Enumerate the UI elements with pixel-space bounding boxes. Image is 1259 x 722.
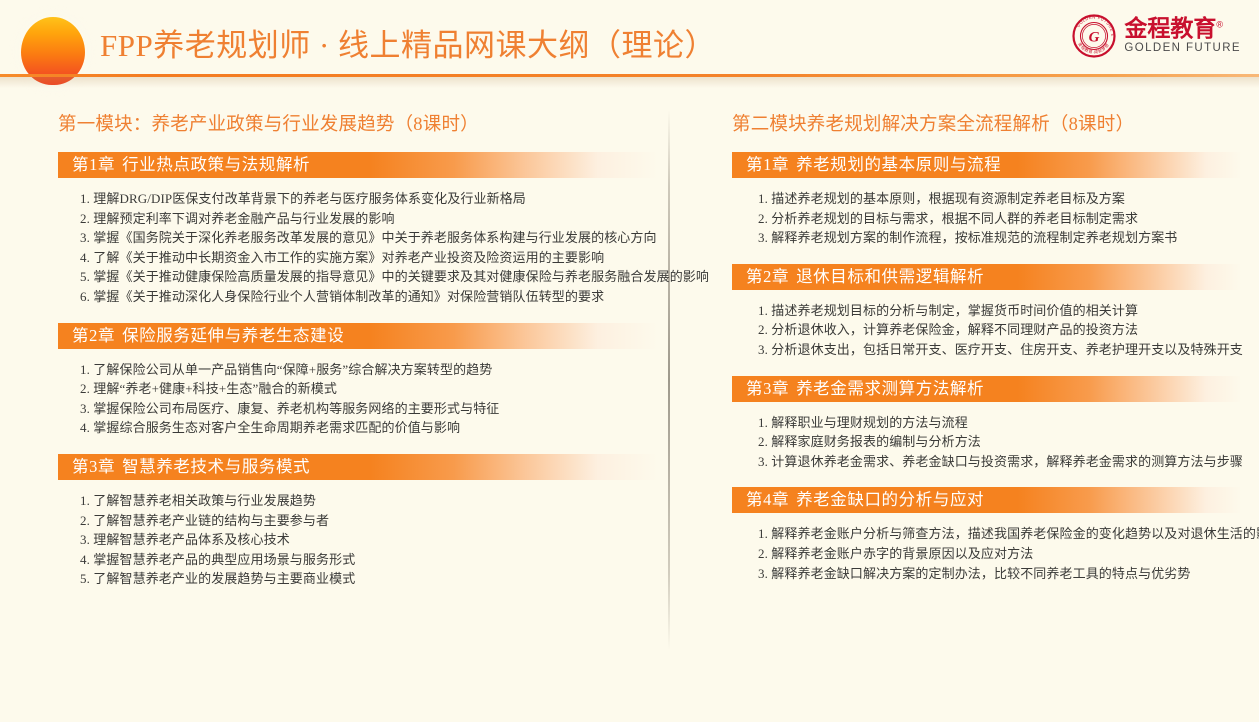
logo-name-cn: 金程教育® [1124, 17, 1241, 40]
chapter-block: 第1章养老规划的基本原则与流程 1. 描述养老规划的基本原则，根据现有资源制定养… [732, 152, 1242, 260]
objective-list: 1. 描述养老规划的基本原则，根据现有资源制定养老目标及方案 2. 分析养老规划… [732, 178, 1242, 260]
list-item: 2. 分析养老规划的目标与需求，根据不同人群的养老目标制定需求 [758, 209, 1242, 229]
chapter-number: 第3章 [746, 379, 789, 398]
chapter-title: 养老金需求测算方法解析 [796, 379, 984, 398]
chapter-header: 第4章养老金缺口的分析与应对 [732, 487, 1242, 513]
objective-list: 1. 了解智慧养老相关政策与行业发展趋势 2. 了解智慧养老产业链的结构与主要参… [58, 480, 658, 601]
objective-list: 1. 了解保险公司从单一产品销售向“保障+服务”综合解决方案转型的趋势 2. 理… [58, 349, 658, 450]
chapter-block: 第3章养老金需求测算方法解析 1. 解释职业与理财规划的方法与流程 2. 解释家… [732, 376, 1242, 484]
chapter-block: 第3章智慧养老技术与服务模式 1. 了解智慧养老相关政策与行业发展趋势 2. 了… [58, 454, 658, 601]
logo-name-cn-text: 金程教育 [1124, 15, 1216, 41]
list-item: 1. 描述养老规划目标的分析与制定，掌握货币时间价值的相关计算 [758, 301, 1242, 321]
chapter-header: 第3章智慧养老技术与服务模式 [58, 454, 658, 480]
logo-wordmark: 金程教育® GOLDEN FUTURE [1124, 17, 1241, 55]
chapter-title: 智慧养老技术与服务模式 [122, 457, 310, 476]
chapter-title: 养老规划的基本原则与流程 [796, 155, 1001, 174]
list-item: 3. 理解智慧养老产品体系及核心技术 [80, 530, 658, 550]
module-column-right: 第二模块养老规划解决方案全流程解析（8课时） 第1章养老规划的基本原则与流程 1… [732, 112, 1242, 599]
chapter-title: 退休目标和供需逻辑解析 [796, 267, 984, 286]
column-divider [668, 110, 670, 650]
chapter-number: 第2章 [72, 326, 115, 345]
objective-list: 1. 解释职业与理财规划的方法与流程 2. 解释家庭财务报表的编制与分析方法 3… [732, 402, 1242, 484]
list-item: 1. 了解保险公司从单一产品销售向“保障+服务”综合解决方案转型的趋势 [80, 360, 658, 380]
list-item: 1. 解释职业与理财规划的方法与流程 [758, 413, 1242, 433]
list-item: 3. 解释养老金缺口解决方案的定制办法，比较不同养老工具的特点与优劣势 [758, 564, 1242, 584]
chapter-title: 养老金缺口的分析与应对 [796, 490, 984, 509]
page-title: FPP养老规划师 · 线上精品网课大纲（理论） [100, 24, 716, 68]
objective-list: 1. 解释养老金账户分析与筛查方法，描述我国养老保险金的变化趋势以及对退休生活的… [732, 513, 1242, 595]
list-item: 3. 分析退休支出，包括日常开支、医疗开支、住房开支、养老护理开支以及特殊开支 [758, 340, 1242, 360]
list-item: 2. 理解预定利率下调对养老金融产品与行业发展的影响 [80, 209, 658, 229]
chapter-block: 第4章养老金缺口的分析与应对 1. 解释养老金账户分析与筛查方法，描述我国养老保… [732, 487, 1242, 595]
logo-name-en: GOLDEN FUTURE [1124, 43, 1241, 55]
module-title: 第一模块：养老产业政策与行业发展趋势（8课时） [58, 112, 658, 138]
list-item: 3. 掌握保险公司布局医疗、康复、养老机构等服务网络的主要形式与特征 [80, 399, 658, 419]
module-title: 第二模块养老规划解决方案全流程解析（8课时） [732, 112, 1242, 138]
list-item: 1. 理解DRG/DIP医保支付改革背景下的养老与医疗服务体系变化及行业新格局 [80, 189, 658, 209]
brand-logo: GOLDEN FUTURE EDUCATION 金程教育·成就梦想 G 金程教育… [1072, 14, 1241, 58]
chapter-header: 第1章行业热点政策与法规解析 [58, 152, 658, 178]
header-rule-shadow [0, 77, 1259, 88]
chapter-block: 第1章行业热点政策与法规解析 1. 理解DRG/DIP医保支付改革背景下的养老与… [58, 152, 658, 319]
chapter-block: 第2章退休目标和供需逻辑解析 1. 描述养老规划目标的分析与制定，掌握货币时间价… [732, 264, 1242, 372]
list-item: 3. 解释养老规划方案的制作流程，按标准规范的流程制定养老规划方案书 [758, 228, 1242, 248]
list-item: 2. 解释养老金账户赤字的背景原因以及应对方法 [758, 544, 1242, 564]
slide-header: FPP养老规划师 · 线上精品网课大纲（理论） GOLDEN FUTURE ED… [0, 0, 1259, 80]
objective-list: 1. 理解DRG/DIP医保支付改革背景下的养老与医疗服务体系变化及行业新格局 … [58, 178, 658, 319]
list-item: 1. 了解智慧养老相关政策与行业发展趋势 [80, 491, 658, 511]
list-item: 3. 计算退休养老金需求、养老金缺口与投资需求，解释养老金需求的测算方法与步骤 [758, 452, 1242, 472]
list-item: 4. 了解《关于推动中长期资金入市工作的实施方案》对养老产业投资及险资运用的主要… [80, 248, 658, 268]
chapter-block: 第2章保险服务延伸与养老生态建设 1. 了解保险公司从单一产品销售向“保障+服务… [58, 323, 658, 450]
list-item: 4. 掌握综合服务生态对客户全生命周期养老需求匹配的价值与影响 [80, 418, 658, 438]
chapter-number: 第2章 [746, 267, 789, 286]
chapter-header: 第2章退休目标和供需逻辑解析 [732, 264, 1242, 290]
chapter-title: 保险服务延伸与养老生态建设 [122, 326, 344, 345]
list-item: 2. 了解智慧养老产业链的结构与主要参与者 [80, 511, 658, 531]
list-item: 3. 掌握《国务院关于深化养老服务改革发展的意见》中关于养老服务体系构建与行业发… [80, 228, 658, 248]
module-column-left: 第一模块：养老产业政策与行业发展趋势（8课时） 第1章行业热点政策与法规解析 1… [58, 112, 658, 605]
chapter-number: 第4章 [746, 490, 789, 509]
chapter-title: 行业热点政策与法规解析 [122, 155, 310, 174]
svg-text:G: G [1089, 30, 1100, 46]
list-item: 2. 解释家庭财务报表的编制与分析方法 [758, 432, 1242, 452]
chapter-header: 第2章保险服务延伸与养老生态建设 [58, 323, 658, 349]
list-item: 5. 了解智慧养老产业的发展趋势与主要商业模式 [80, 569, 658, 589]
registered-mark: ® [1216, 20, 1223, 30]
list-item: 6. 掌握《关于推动深化人身保险行业个人营销体制改革的通知》对保险营销队伍转型的… [80, 287, 658, 307]
list-item: 4. 掌握智慧养老产品的典型应用场景与服务形式 [80, 550, 658, 570]
chapter-header: 第3章养老金需求测算方法解析 [732, 376, 1242, 402]
slide-canvas: FPP养老规划师 · 线上精品网课大纲（理论） GOLDEN FUTURE ED… [0, 0, 1259, 722]
list-item: 2. 理解“养老+健康+科技+生态”融合的新模式 [80, 379, 658, 399]
list-item: 2. 分析退休收入，计算养老保险金，解释不同理财产品的投资方法 [758, 320, 1242, 340]
objective-list: 1. 描述养老规划目标的分析与制定，掌握货币时间价值的相关计算 2. 分析退休收… [732, 290, 1242, 372]
list-item: 5. 掌握《关于推动健康保险高质量发展的指导意见》中的关键要求及其对健康保险与养… [80, 267, 658, 287]
golden-future-seal-icon: GOLDEN FUTURE EDUCATION 金程教育·成就梦想 G [1072, 14, 1116, 58]
list-item: 1. 描述养老规划的基本原则，根据现有资源制定养老目标及方案 [758, 189, 1242, 209]
list-item: 1. 解释养老金账户分析与筛查方法，描述我国养老保险金的变化趋势以及对退休生活的… [758, 524, 1242, 544]
chapter-number: 第1章 [72, 155, 115, 174]
chapter-number: 第3章 [72, 457, 115, 476]
chapter-header: 第1章养老规划的基本原则与流程 [732, 152, 1242, 178]
chapter-number: 第1章 [746, 155, 789, 174]
